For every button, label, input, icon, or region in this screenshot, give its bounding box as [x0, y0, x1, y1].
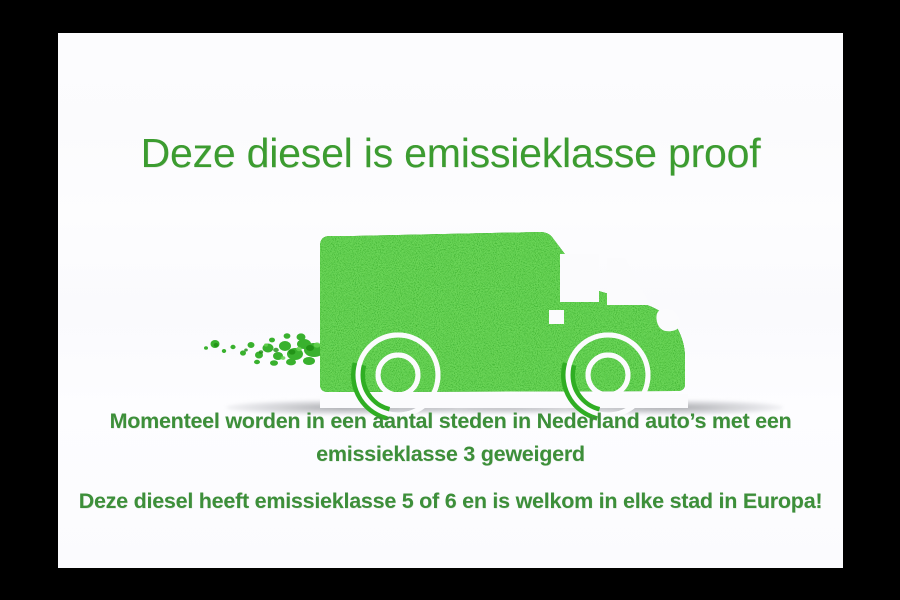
poster-frame: Deze diesel is emissieklasse proof — [0, 0, 900, 600]
copy-paragraph-2: Deze diesel heeft emissieklasse 5 of 6 e… — [58, 485, 843, 518]
poster-canvas: Deze diesel is emissieklasse proof — [58, 33, 843, 568]
cabin-door-window — [560, 254, 599, 302]
page-title: Deze diesel is emissieklasse proof — [58, 130, 843, 177]
eco-van-illustration — [188, 198, 788, 423]
van-body — [308, 223, 698, 403]
van-graphic — [188, 198, 788, 423]
body-copy: Momenteel worden in een aantal steden in… — [58, 405, 843, 518]
exhaust-plume-icon — [204, 333, 324, 366]
copy-paragraph-1: Momenteel worden in een aantal steden in… — [58, 405, 843, 471]
door-handle — [549, 310, 564, 324]
windshield — [607, 258, 650, 305]
